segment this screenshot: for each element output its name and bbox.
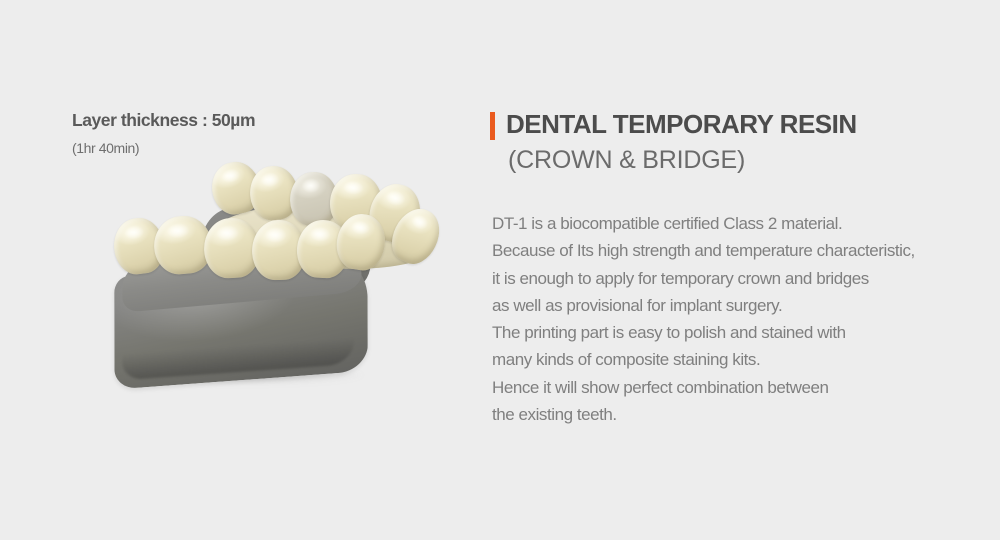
description-line: Because of Its high strength and tempera… <box>492 237 990 264</box>
description-line: the existing teeth. <box>492 401 990 428</box>
dental-model-photo <box>92 160 452 390</box>
description-line: as well as provisional for implant surge… <box>492 292 990 319</box>
description-line: Hence it will show perfect combination b… <box>492 374 990 401</box>
description-block: DT-1 is a biocompatible certified Class … <box>490 210 990 428</box>
description-line: DT-1 is a biocompatible certified Class … <box>492 210 990 237</box>
spec-caption-block: Layer thickness : 50µm (1hr 40min) <box>72 109 452 157</box>
product-info-panel: Layer thickness : 50µm (1hr 40min) <box>0 0 1000 540</box>
layer-thickness-label: Layer thickness : 50µm <box>72 109 452 131</box>
accent-bar <box>490 112 495 140</box>
content-column: DENTAL TEMPORARY RESIN (CROWN & BRIDGE) … <box>490 108 990 428</box>
dental-model-photo-inner <box>92 160 452 390</box>
headline-row: DENTAL TEMPORARY RESIN <box>490 108 990 140</box>
description-line: The printing part is easy to polish and … <box>492 319 990 346</box>
print-time-label: (1hr 40min) <box>72 139 452 157</box>
page-subtitle: (CROWN & BRIDGE) <box>490 144 990 176</box>
description-line: many kinds of composite staining kits. <box>492 346 990 373</box>
description-line: it is enough to apply for temporary crow… <box>492 265 990 292</box>
page-title: DENTAL TEMPORARY RESIN <box>506 108 990 140</box>
